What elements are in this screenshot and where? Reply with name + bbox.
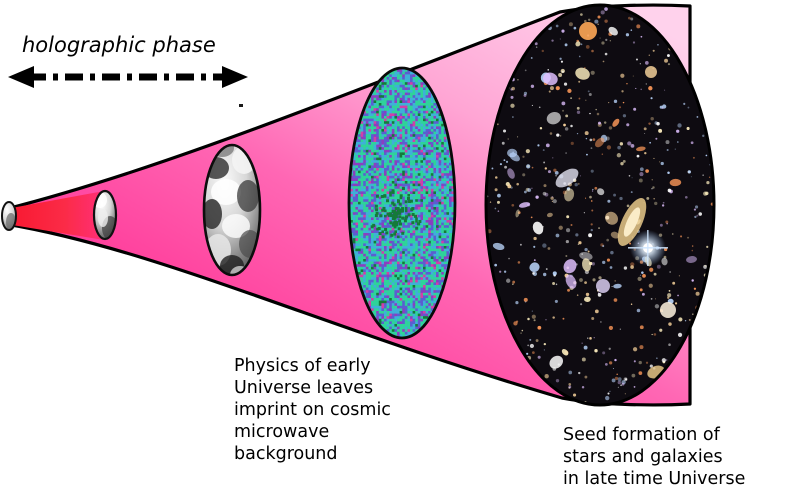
arrow-head-right xyxy=(222,66,248,88)
cosmology-diagram xyxy=(0,0,791,493)
caption-cmb: Physics of early Universe leaves imprint… xyxy=(234,355,391,465)
diagram-canvas xyxy=(0,0,791,493)
arrow-head-left xyxy=(8,66,34,88)
caption-galaxies: Seed formation of stars and galaxies in … xyxy=(563,424,745,490)
speck-artifact xyxy=(239,104,243,107)
phase-label: holographic phase xyxy=(22,34,216,56)
deep-field-disc xyxy=(486,5,714,405)
orange-galaxy xyxy=(579,22,597,40)
holographic-phase-arrow xyxy=(8,66,248,88)
